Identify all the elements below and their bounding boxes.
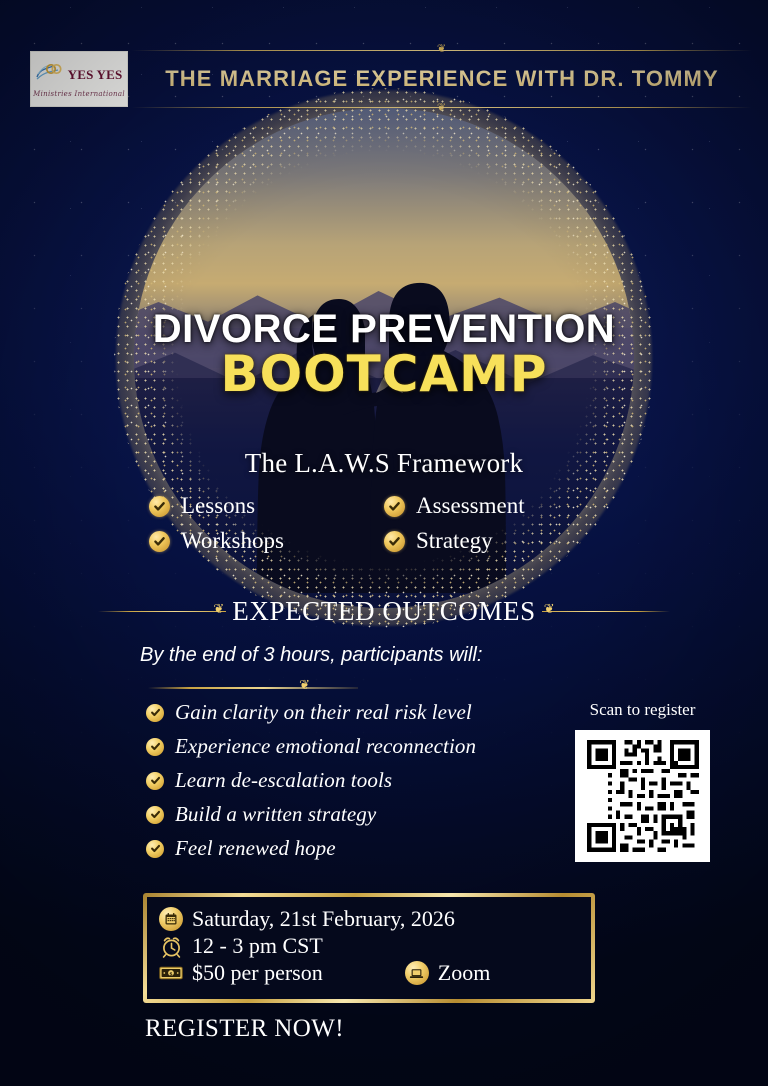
outcomes-sub-rule: ❦ [148, 680, 358, 694]
outcomes-heading: EXPECTED OUTCOMES [226, 596, 541, 627]
check-circle-icon [146, 738, 164, 756]
outcome-item-label: Gain clarity on their real risk level [175, 700, 472, 725]
framework-item: Strategy [384, 528, 619, 554]
check-circle-icon [384, 496, 405, 517]
framework-item: Assessment [384, 493, 619, 519]
gold-dust-divider [149, 408, 619, 434]
qr-block: Scan to register [575, 700, 710, 862]
check-circle-icon [384, 531, 405, 552]
detail-time: 12 - 3 pm CST [192, 933, 323, 959]
check-circle-icon [146, 704, 164, 722]
outcome-item-label: Build a written strategy [175, 802, 376, 827]
alarm-clock-icon [159, 934, 183, 958]
hero-title-block: DIVORCE PREVENTION BOOTCAMP [134, 308, 634, 401]
event-details-box: Saturday, 21st February, 2026 12 - 3 pm … [143, 893, 595, 1003]
framework-item: Lessons [149, 493, 384, 519]
logo-name: YES YES [68, 68, 123, 81]
outcome-item: Feel renewed hope [146, 836, 476, 861]
check-circle-icon [149, 531, 170, 552]
detail-row-price-platform: $ $50 per person Zoom [159, 960, 591, 986]
framework-item-label: Workshops [181, 528, 284, 554]
detail-row-date: Saturday, 21st February, 2026 [159, 906, 591, 932]
framework-item-label: Strategy [416, 528, 493, 554]
outcomes-ornament-right-icon: ❦ [544, 602, 555, 615]
framework-title: The L.A.W.S Framework [0, 448, 768, 479]
brand-logo: YES YES Ministries International [30, 51, 128, 107]
framework-list: Lessons Assessment Workshops Strategy [149, 493, 619, 554]
logo-lockup: YES YES [36, 62, 123, 87]
detail-row-time: 12 - 3 pm CST [159, 933, 591, 959]
outcomes-rule-right: ❦ [542, 605, 670, 619]
outcomes-sub-ornament-icon: ❦ [299, 678, 310, 691]
svg-text:$: $ [169, 971, 172, 977]
outcome-item-label: Experience emotional reconnection [175, 734, 476, 759]
qr-label: Scan to register [575, 700, 710, 720]
outcomes-subheading: By the end of 3 hours, participants will… [140, 644, 482, 667]
detail-date: Saturday, 21st February, 2026 [192, 906, 455, 932]
check-circle-icon [146, 840, 164, 858]
detail-platform: Zoom [438, 960, 491, 986]
outcome-item-label: Learn de-escalation tools [175, 768, 392, 793]
register-now-cta[interactable]: REGISTER NOW! [145, 1015, 344, 1043]
check-circle-icon [146, 772, 164, 790]
outcome-item: Experience emotional reconnection [146, 734, 476, 759]
hero-title-line2: BOOTCAMP [134, 348, 634, 401]
check-circle-icon [149, 496, 170, 517]
framework-item-label: Lessons [181, 493, 255, 519]
logo-subtitle: Ministries International [33, 90, 125, 98]
laptop-icon [405, 961, 429, 985]
outcome-item: Learn de-escalation tools [146, 768, 476, 793]
event-flyer: ❦ ❦ YES YES Ministries International THE… [0, 0, 768, 1086]
outcomes-heading-row: ❦ EXPECTED OUTCOMES ❦ [0, 596, 768, 627]
outcome-item: Gain clarity on their real risk level [146, 700, 476, 725]
outcomes-ornament-left-icon: ❦ [213, 602, 224, 615]
outcomes-rule-left: ❦ [98, 605, 226, 619]
wedding-rings-book-logo-icon [36, 62, 66, 87]
framework-item: Workshops [149, 528, 384, 554]
outcome-item: Build a written strategy [146, 802, 476, 827]
framework-section: The L.A.W.S Framework Lessons Assessment… [0, 448, 768, 554]
qr-code-icon[interactable] [575, 730, 710, 862]
check-circle-icon [146, 806, 164, 824]
banknote-icon: $ [159, 961, 183, 985]
detail-price: $50 per person [192, 960, 323, 986]
hero-title-line1: DIVORCE PREVENTION [134, 308, 634, 350]
outcome-item-label: Feel renewed hope [175, 836, 336, 861]
outcomes-list: Gain clarity on their real risk level Ex… [146, 700, 476, 870]
calendar-icon [159, 907, 183, 931]
framework-item-label: Assessment [416, 493, 525, 519]
